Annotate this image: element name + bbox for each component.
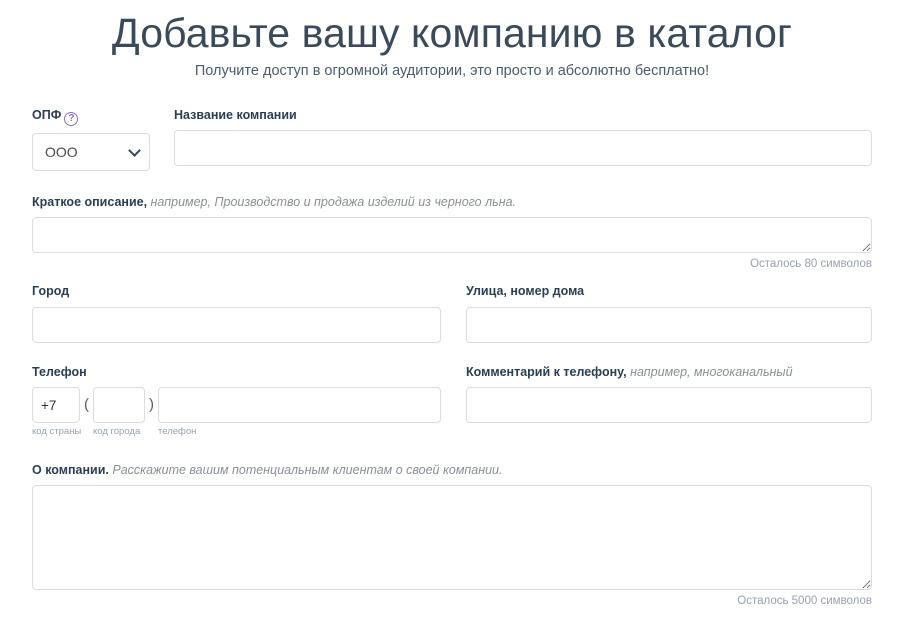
phone-country-caption: код страны [32, 426, 80, 437]
phone-label: Телефон [32, 365, 441, 381]
question-mark-icon[interactable]: ? [64, 112, 78, 126]
paren-close: ) [145, 387, 158, 423]
paren-open: ( [80, 387, 93, 423]
form-row-address: Город Улица, номер дома [32, 284, 872, 343]
phone-comment-input[interactable] [466, 387, 872, 423]
short-description-label: Краткое описание, например, Производство… [32, 195, 872, 211]
city-input[interactable] [32, 307, 441, 343]
phone-input-group: код страны ( код города ) телефон [32, 387, 441, 437]
form-row-opf-name: ОПФ? ООО Название компании [32, 108, 872, 171]
form-row-about: О компании. Расскажите вашим потенциальн… [32, 463, 872, 609]
phone-number-input[interactable] [158, 387, 441, 423]
phone-comment-label-bold: Комментарий к телефону, [466, 365, 627, 379]
company-form: ОПФ? ООО Название компании Краткое описа… [0, 108, 904, 609]
phone-number-caption: телефон [158, 426, 441, 437]
phone-number-cell: телефон [158, 387, 441, 437]
city-label: Город [32, 284, 441, 300]
company-name-input[interactable] [174, 130, 872, 166]
phone-country-cell: код страны [32, 387, 80, 437]
phone-comment-label-hint: например, многоканальный [627, 365, 793, 379]
field-company-name: Название компании [174, 108, 872, 171]
field-phone-comment: Комментарий к телефону, например, многок… [466, 365, 872, 438]
form-row-phone: Телефон код страны ( код города ) т [32, 365, 872, 438]
phone-city-cell: код города [93, 387, 145, 437]
field-opf: ОПФ? ООО [32, 108, 150, 171]
opf-select-wrapper: ООО [32, 133, 150, 171]
page-header: Добавьте вашу компанию в каталог Получит… [0, 0, 904, 81]
street-input[interactable] [466, 307, 872, 343]
street-label: Улица, номер дома [466, 284, 872, 300]
field-phone: Телефон код страны ( код города ) т [32, 365, 441, 438]
about-label-hint: Расскажите вашим потенциальным клиентам … [109, 463, 503, 477]
company-name-label: Название компании [174, 108, 872, 124]
field-short-description: Краткое описание, например, Производство… [32, 195, 872, 272]
phone-city-caption: код города [93, 426, 145, 437]
company-registration-page: Добавьте вашу компанию в каталог Получит… [0, 0, 904, 624]
opf-label: ОПФ? [32, 108, 150, 126]
about-label-bold: О компании. [32, 463, 109, 477]
phone-country-code-input[interactable] [32, 387, 80, 423]
form-row-short-description: Краткое описание, например, Производство… [32, 195, 872, 272]
field-about: О компании. Расскажите вашим потенциальн… [32, 463, 872, 609]
short-description-label-hint: например, Производство и продажа изделий… [147, 195, 516, 209]
phone-city-code-input[interactable] [93, 387, 145, 423]
page-subtitle: Получите доступ в огромной аудитории, эт… [0, 63, 904, 80]
short-description-label-bold: Краткое описание, [32, 195, 147, 209]
about-counter: Осталось 5000 символов [32, 595, 872, 609]
short-description-counter: Осталось 80 символов [32, 258, 872, 272]
about-label: О компании. Расскажите вашим потенциальн… [32, 463, 872, 479]
about-textarea[interactable] [32, 485, 872, 590]
phone-comment-label: Комментарий к телефону, например, многок… [466, 365, 872, 381]
page-title: Добавьте вашу компанию в каталог [0, 10, 904, 57]
field-street: Улица, номер дома [466, 284, 872, 343]
short-description-textarea[interactable] [32, 217, 872, 253]
opf-label-text: ОПФ [32, 108, 61, 122]
field-city: Город [32, 284, 441, 343]
opf-select[interactable]: ООО [32, 133, 150, 171]
